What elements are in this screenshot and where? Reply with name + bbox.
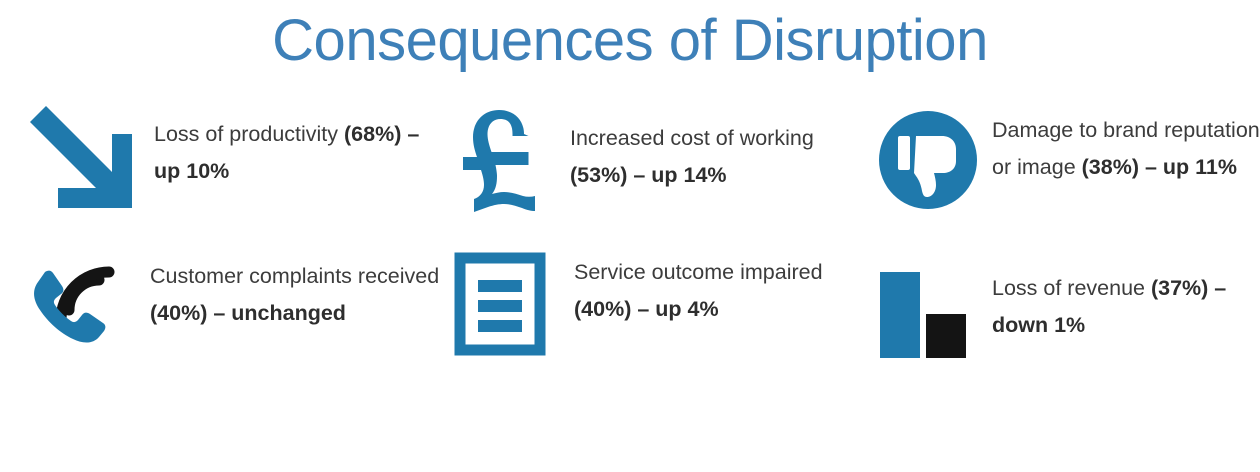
arrow-down-right-icon <box>26 104 144 214</box>
item-label: Loss of revenue <box>992 276 1151 300</box>
ringing-phone-icon <box>26 252 126 352</box>
consequences-grid: Loss of productivity (68%) – up 10% Incr… <box>0 98 1260 398</box>
item-stat: (40%) – unchanged <box>150 301 346 325</box>
item-label: Increased cost of working <box>570 126 814 150</box>
item-damage-to-brand-reputation: Damage to brand reputation or image (38%… <box>860 98 1260 248</box>
page-title: Consequences of Disruption <box>0 8 1260 75</box>
item-text: Loss of revenue (37%) – down 1% <box>992 248 1260 344</box>
document-lines-icon <box>456 254 544 354</box>
thumbs-down-circle-icon <box>878 110 978 210</box>
item-label: Customer complaints received <box>150 264 439 288</box>
item-text: Customer complaints received (40%) – unc… <box>150 248 440 332</box>
item-label: Loss of productivity <box>154 122 344 146</box>
item-increased-cost-of-working: Increased cost of working (53%) – up 14% <box>440 98 860 248</box>
bar-chart-decline-icon <box>878 270 978 360</box>
item-text: Service outcome impaired (40%) – up 4% <box>574 248 860 328</box>
item-customer-complaints: Customer complaints received (40%) – unc… <box>0 248 440 398</box>
item-loss-of-productivity: Loss of productivity (68%) – up 10% <box>0 98 440 248</box>
item-loss-of-revenue: Loss of revenue (37%) – down 1% <box>860 248 1260 398</box>
item-stat: (40%) – up 4% <box>574 297 719 321</box>
item-service-outcome-impaired: Service outcome impaired (40%) – up 4% <box>440 248 860 398</box>
item-text: Loss of productivity (68%) – up 10% <box>154 98 440 190</box>
item-stat: (53%) – up 14% <box>570 163 727 187</box>
grid-row: Loss of productivity (68%) – up 10% Incr… <box>0 98 1260 248</box>
item-text: Increased cost of working (53%) – up 14% <box>570 98 860 194</box>
pound-sterling-icon <box>456 100 552 212</box>
grid-row: Customer complaints received (40%) – unc… <box>0 248 1260 398</box>
item-text: Damage to brand reputation or image (38%… <box>992 98 1260 186</box>
item-stat: (38%) – up 11% <box>1082 155 1237 179</box>
infographic-poster: Consequences of Disruption Loss of produ <box>0 0 1260 472</box>
item-label: Service outcome impaired <box>574 260 823 284</box>
